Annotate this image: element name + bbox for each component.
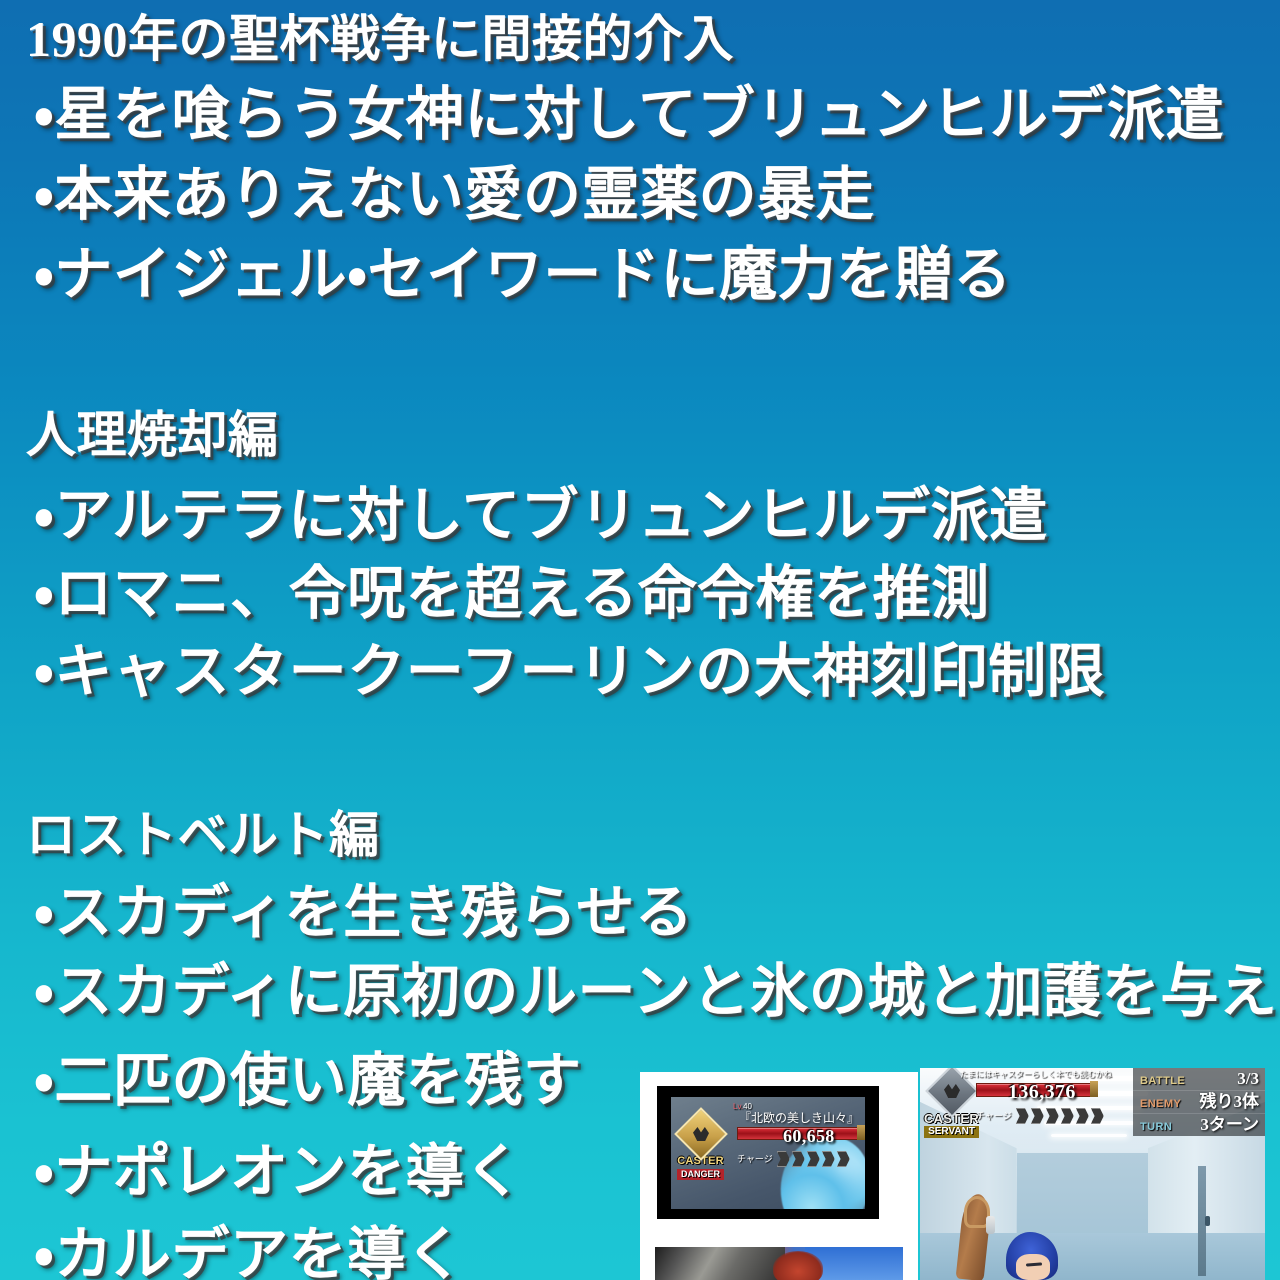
level-value: 40 bbox=[743, 1102, 752, 1111]
status-key: TURN bbox=[1140, 1121, 1172, 1133]
status-row-turn: TURN 3ターン bbox=[1133, 1114, 1265, 1136]
ceiling-light bbox=[1051, 1134, 1127, 1137]
red-haired-character bbox=[773, 1251, 823, 1280]
charge-meter-right: チャージ bbox=[976, 1108, 1104, 1124]
presentation-slide: 1990年の聖杯戦争に間接的介入 ・星を喰らう女神に対してブリュンヒルデ派遣 ・… bbox=[0, 0, 1280, 1280]
right-capture-image: CASTER SERVANT たまにはキャスターらしく本でも読むかね 136,3… bbox=[920, 1068, 1265, 1280]
status-value: 残り3体 bbox=[1200, 1093, 1260, 1111]
enemy-hp-value: 60,658 bbox=[783, 1127, 835, 1145]
charge-meter-left: チャージ bbox=[737, 1151, 850, 1167]
caster-class-icon bbox=[674, 1107, 728, 1161]
secondary-capture-strip bbox=[655, 1247, 903, 1280]
charge-pip-icon bbox=[837, 1151, 850, 1167]
hp-bar-cap bbox=[857, 1125, 865, 1140]
charge-pip-icon bbox=[1091, 1108, 1104, 1124]
bullet-item: ・ロマニ、令呪を超える命令権を推測 bbox=[34, 565, 990, 623]
status-value: 3ターン bbox=[1200, 1116, 1259, 1134]
bullet-item: ・本来ありえない愛の霊薬の暴走 bbox=[34, 166, 874, 224]
servant-speech-line: たまにはキャスターらしく本でも読むかね bbox=[960, 1071, 1112, 1079]
bullet-item: ・星を喰らう女神に対してブリュンヒルデ派遣 bbox=[34, 86, 1224, 144]
bullet-item: ・キャスタークーフーリンの大神刻印制限 bbox=[34, 643, 1105, 701]
bullet-item: ・カルデアを導く bbox=[34, 1226, 464, 1280]
status-row-enemy: ENEMY 残り3体 bbox=[1133, 1091, 1265, 1114]
left-capture-image: CASTER DANGER Lv.40 『北欧の美しき山々』 60,658 チャ… bbox=[671, 1097, 865, 1209]
left-capture-frame: CASTER DANGER Lv.40 『北欧の美しき山々』 60,658 チャ… bbox=[657, 1086, 879, 1219]
charge-pip-icon bbox=[1031, 1108, 1044, 1124]
servant-class-plate-right: CASTER SERVANT bbox=[924, 1072, 979, 1138]
charge-pip-icon bbox=[822, 1151, 835, 1167]
section-heading-1: 1990年の聖杯戦争に間接的介入 bbox=[26, 14, 734, 64]
door-handle-icon bbox=[1205, 1216, 1210, 1226]
bullet-item: ・ナポレオンを導く bbox=[34, 1143, 523, 1201]
charge-pip-icon bbox=[1016, 1108, 1029, 1124]
bullet-item: ・アルテラに対してブリュンヒルデ派遣 bbox=[34, 487, 1048, 545]
section-heading-2: 人理焼却編 bbox=[26, 410, 279, 460]
section-heading-3: ロストベルト編 bbox=[26, 810, 380, 860]
staff-charm-icon bbox=[986, 1216, 995, 1234]
level-prefix: Lv. bbox=[733, 1102, 743, 1111]
charge-pip-icon bbox=[792, 1151, 805, 1167]
status-row-battle: BATTLE 3/3 bbox=[1133, 1068, 1265, 1091]
charge-pip-icon bbox=[777, 1151, 790, 1167]
enemy-class-plate-left: CASTER DANGER bbox=[677, 1115, 724, 1180]
bullet-item: ・スカディに原初のルーンと氷の城と加護を与える bbox=[34, 963, 1280, 1021]
noble-phantasm-name: 『北欧の美しき山々』 bbox=[739, 1112, 859, 1124]
status-key: ENEMY bbox=[1140, 1098, 1181, 1110]
enemy-level: Lv.40 bbox=[733, 1103, 752, 1111]
charge-pip-icon bbox=[1046, 1108, 1059, 1124]
hp-bar-cap bbox=[1090, 1081, 1098, 1097]
caster-glyph-icon bbox=[693, 1127, 709, 1141]
battle-status-panel: BATTLE 3/3 ENEMY 残り3体 TURN 3ターン bbox=[1133, 1068, 1265, 1136]
charge-pip-icon bbox=[1061, 1108, 1074, 1124]
status-key: BATTLE bbox=[1140, 1075, 1185, 1087]
bullet-item: ・二匹の使い魔を残す bbox=[34, 1052, 582, 1110]
armor-element bbox=[655, 1247, 785, 1280]
blue-haired-character-face bbox=[1016, 1254, 1050, 1280]
servant-hp-value: 136,376 bbox=[1008, 1082, 1076, 1102]
charge-pip-icon bbox=[807, 1151, 820, 1167]
charge-pip-icon bbox=[1076, 1108, 1089, 1124]
bullet-item: ・ナイジェル・セイワードに魔力を贈る bbox=[34, 246, 1012, 304]
charge-label: チャージ bbox=[976, 1112, 1012, 1121]
bullet-item: ・スカディを生き残らせる bbox=[34, 884, 693, 942]
status-value: 3/3 bbox=[1237, 1070, 1259, 1088]
danger-badge: DANGER bbox=[677, 1169, 724, 1180]
charge-label: チャージ bbox=[737, 1155, 773, 1164]
servant-badge: SERVANT bbox=[924, 1126, 979, 1138]
caster-glyph-icon bbox=[944, 1084, 960, 1098]
